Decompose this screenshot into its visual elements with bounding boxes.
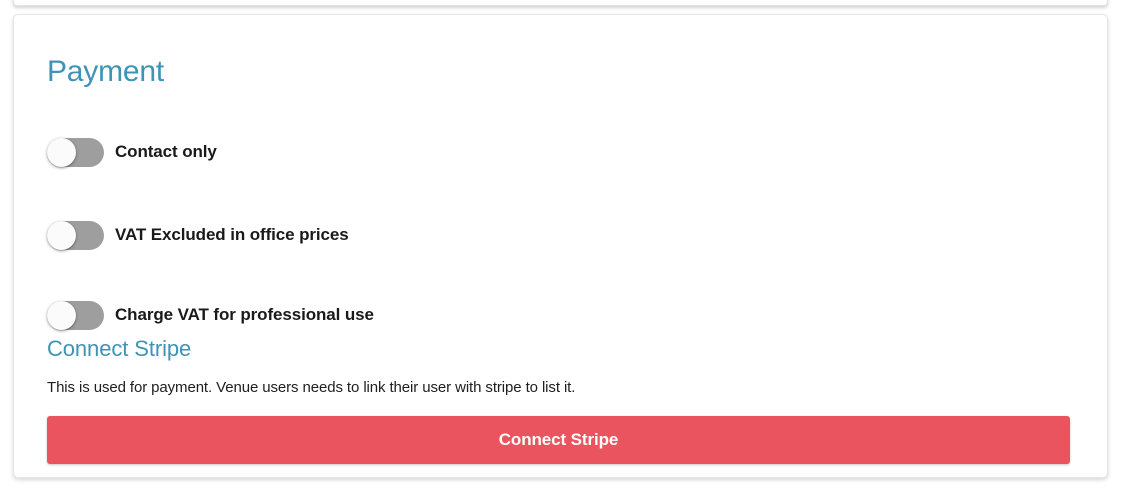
toggle-switch-vat-excluded[interactable] <box>47 221 104 250</box>
toggle-label-contact-only: Contact only <box>115 142 217 162</box>
toggle-row-charge-vat[interactable]: Charge VAT for professional use <box>47 301 1077 330</box>
toggle-row-vat-excluded[interactable]: VAT Excluded in office prices <box>47 221 1077 250</box>
toggle-label-vat-excluded: VAT Excluded in office prices <box>115 225 349 245</box>
payment-settings-card: Payment Contact only VAT Excluded in off… <box>13 14 1108 478</box>
toggle-knob <box>47 138 76 167</box>
toggle-switch-contact-only[interactable] <box>47 138 104 167</box>
toggle-label-charge-vat: Charge VAT for professional use <box>115 305 374 325</box>
page-title: Payment <box>47 15 1077 90</box>
connect-stripe-button[interactable]: Connect Stripe <box>47 416 1070 464</box>
connect-stripe-heading: Connect Stripe <box>47 330 191 362</box>
connect-stripe-help-text: This is used for payment. Venue users ne… <box>47 362 1077 398</box>
toggle-knob <box>47 221 76 250</box>
toggle-knob <box>47 301 76 330</box>
toggle-switch-charge-vat[interactable] <box>47 301 104 330</box>
toggle-row-contact-only[interactable]: Contact only <box>47 138 1077 167</box>
previous-panel-edge <box>13 0 1108 6</box>
card-body: Payment Contact only VAT Excluded in off… <box>47 15 1077 464</box>
